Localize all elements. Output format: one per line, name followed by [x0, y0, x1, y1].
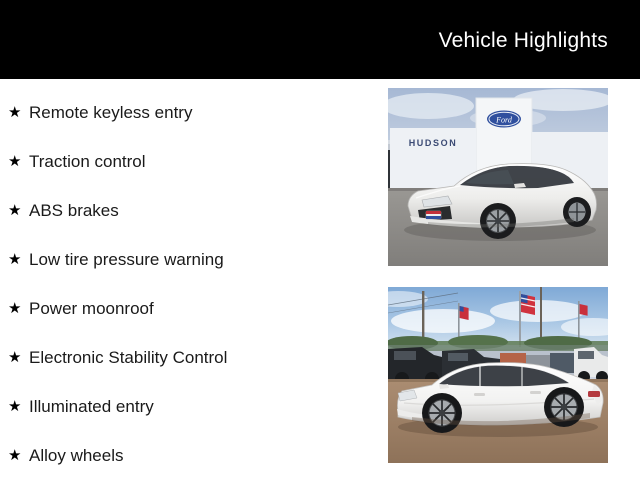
- star-bullet-icon: ★: [8, 105, 29, 120]
- star-bullet-icon: ★: [8, 252, 29, 267]
- list-item: ★ Power moonroof: [0, 284, 375, 333]
- list-item: ★ Illuminated entry: [0, 382, 375, 431]
- vehicle-features-list: ★ Remote keyless entry ★ Traction contro…: [0, 88, 375, 480]
- feature-label: Low tire pressure warning: [29, 250, 224, 270]
- vehicle-photo-front-three-quarter: HUDSON Ford: [388, 88, 608, 266]
- star-bullet-icon: ★: [8, 448, 29, 463]
- list-item: ★ ABS brakes: [0, 186, 375, 235]
- feature-label: Alloy wheels: [29, 446, 124, 466]
- photo-artwork: [388, 287, 608, 463]
- feature-label: ABS brakes: [29, 201, 119, 221]
- star-bullet-icon: ★: [8, 350, 29, 365]
- front-wheel: [480, 203, 516, 239]
- star-bullet-icon: ★: [8, 203, 29, 218]
- feature-label: Remote keyless entry: [29, 103, 192, 123]
- list-item: ★ Low tire pressure warning: [0, 235, 375, 284]
- list-item: ★ Alloy wheels: [0, 431, 375, 480]
- front-wheel: [422, 393, 462, 433]
- star-bullet-icon: ★: [8, 154, 29, 169]
- header-bar: Vehicle Highlights: [0, 0, 640, 79]
- list-item: ★ Electronic Stability Control: [0, 333, 375, 382]
- svg-text:Ford: Ford: [495, 115, 513, 124]
- vehicle-photo-side-profile: [388, 287, 608, 463]
- list-item: ★ Remote keyless entry: [0, 88, 375, 137]
- feature-label: Power moonroof: [29, 299, 154, 319]
- feature-label: Illuminated entry: [29, 397, 154, 417]
- photo-artwork: HUDSON Ford: [388, 88, 608, 266]
- star-bullet-icon: ★: [8, 301, 29, 316]
- page-title: Vehicle Highlights: [439, 28, 608, 54]
- feature-label: Traction control: [29, 152, 146, 172]
- feature-label: Electronic Stability Control: [29, 348, 227, 368]
- slide-vehicle-highlights: Vehicle Highlights ★ Remote keyless entr…: [0, 0, 640, 480]
- dealer-sign-text: HUDSON: [409, 138, 458, 148]
- list-item: ★ Traction control: [0, 137, 375, 186]
- star-bullet-icon: ★: [8, 399, 29, 414]
